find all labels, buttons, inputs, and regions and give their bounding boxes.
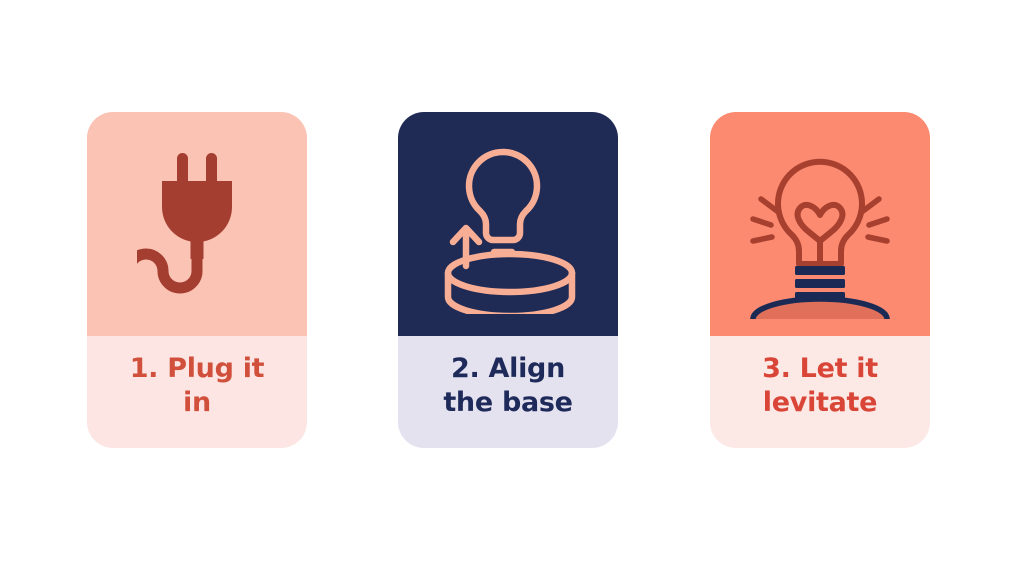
card-caption-area: 3. Let it levitate: [710, 336, 930, 448]
card-caption-text: 1. Plug it in: [130, 352, 265, 421]
power-plug-icon: [137, 149, 257, 299]
card-caption-text: 3. Let it levitate: [762, 352, 878, 421]
poster-canvas: 1. Plug it in: [0, 0, 1035, 568]
caption-line-1: 3. Let it: [762, 353, 878, 384]
bulb-above-base-with-up-arrow-icon: [428, 134, 588, 314]
card-caption-area: 2. Align the base: [398, 336, 618, 448]
caption-line-1: 1. Plug it: [130, 353, 265, 384]
card-caption-text: 2. Align the base: [443, 352, 572, 421]
disc-top-ellipse: [448, 254, 572, 292]
glow-rays-left: [753, 199, 777, 241]
card-artwork-area: [710, 112, 930, 336]
caption-line-2: the base: [443, 387, 572, 418]
bulb-glass-outline: [469, 152, 537, 240]
glowing-heart-bulb-levitating-icon: [731, 129, 909, 319]
step-card-align-the-base[interactable]: 2. Align the base: [398, 112, 618, 448]
step-card-let-it-levitate[interactable]: 3. Let it levitate: [710, 112, 930, 448]
caption-line-2: in: [183, 387, 211, 418]
heart-filament-icon: [798, 205, 843, 241]
card-caption-area: 1. Plug it in: [87, 336, 307, 448]
glow-rays-right: [863, 199, 887, 241]
levitation-disc: [753, 299, 887, 319]
card-artwork-area: [87, 112, 307, 336]
caption-line-2: levitate: [763, 387, 877, 418]
caption-line-1: 2. Align: [451, 353, 565, 384]
card-artwork-area: [398, 112, 618, 336]
step-card-plug-it-in[interactable]: 1. Plug it in: [87, 112, 307, 448]
